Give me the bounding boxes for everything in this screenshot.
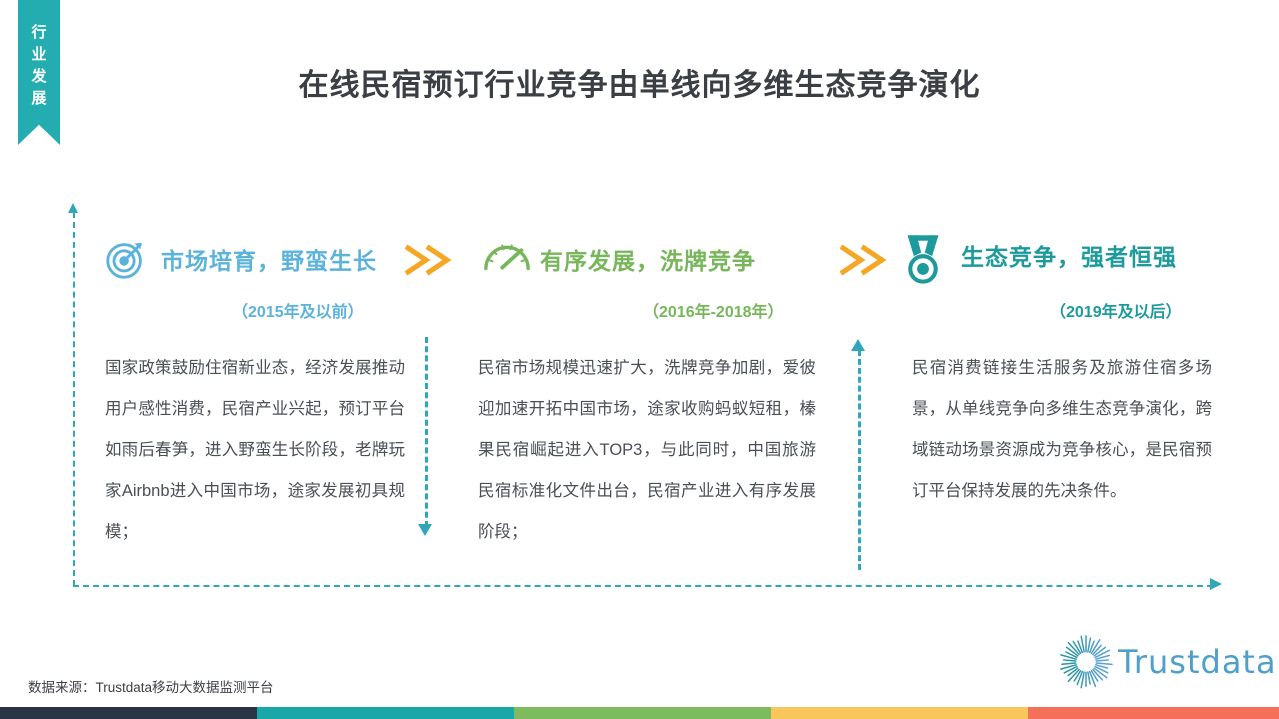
trustdata-logo: Trustdata: [1058, 634, 1277, 690]
stage-1-header: 市场培育，野蛮生长: [103, 236, 377, 282]
column-divider-1-arrowhead: [418, 524, 432, 536]
bottom-bar-segment-green: [514, 707, 771, 719]
column-divider-1: [425, 337, 428, 527]
bottom-bar-segment-navy: [0, 707, 257, 719]
column-divider-2-arrowhead: [851, 339, 865, 351]
column-divider-2: [858, 350, 861, 570]
stage-1-body: 国家政策鼓励住宿新业态，经济发展推动用户感性消费，民宿产业兴起，预订平台如雨后春…: [105, 348, 405, 553]
data-source-note: 数据来源：Trustdata移动大数据监测平台: [28, 676, 274, 696]
speedometer-icon: [482, 236, 528, 282]
ribbon-char-0: 行: [31, 22, 46, 44]
stage-2-header: 有序发展，洗牌竞争: [482, 236, 756, 282]
chevron-connector-1: [405, 244, 453, 278]
stage-1-title: 市场培育，野蛮生长: [161, 242, 377, 276]
stage-3-body: 民宿消费链接生活服务及旅游住宿多场景，从单线竞争向多维生态竞争演化，跨域链动场景…: [912, 348, 1212, 512]
stage-2-body: 民宿市场规模迅速扩大，洗牌竞争加剧，爱彼迎加速开拓中国市场，途家收购蚂蚁短租，榛…: [478, 348, 816, 553]
timeline-horizontal-axis: [73, 585, 1213, 587]
target-icon: [103, 236, 149, 282]
stage-1-period: （2015年及以前）: [232, 298, 364, 322]
bottom-bar-segment-amber: [771, 707, 1028, 719]
timeline-vertical-axis: [73, 212, 75, 586]
medal-icon: [903, 232, 949, 278]
bottom-bar-segment-teal: [257, 707, 514, 719]
stage-3-header: 生态竞争，强者恒强: [903, 232, 1177, 278]
stage-3-title: 生态竞争，强者恒强: [961, 238, 1177, 272]
chevron-connector-2: [840, 244, 888, 278]
bottom-color-bar: [0, 707, 1279, 719]
stage-2-title: 有序发展，洗牌竞争: [540, 242, 756, 276]
stage-3-period: （2019年及以后）: [1050, 298, 1182, 322]
trustdata-wordmark: Trustdata: [1118, 643, 1277, 681]
sunburst-icon: [1058, 634, 1114, 690]
page-title: 在线民宿预订行业竞争由单线向多维生态竞争演化: [0, 60, 1279, 104]
bottom-bar-segment-coral: [1028, 707, 1279, 719]
timeline-horizontal-arrowhead: [1210, 578, 1222, 590]
stage-2-period: （2016年-2018年）: [643, 298, 784, 322]
